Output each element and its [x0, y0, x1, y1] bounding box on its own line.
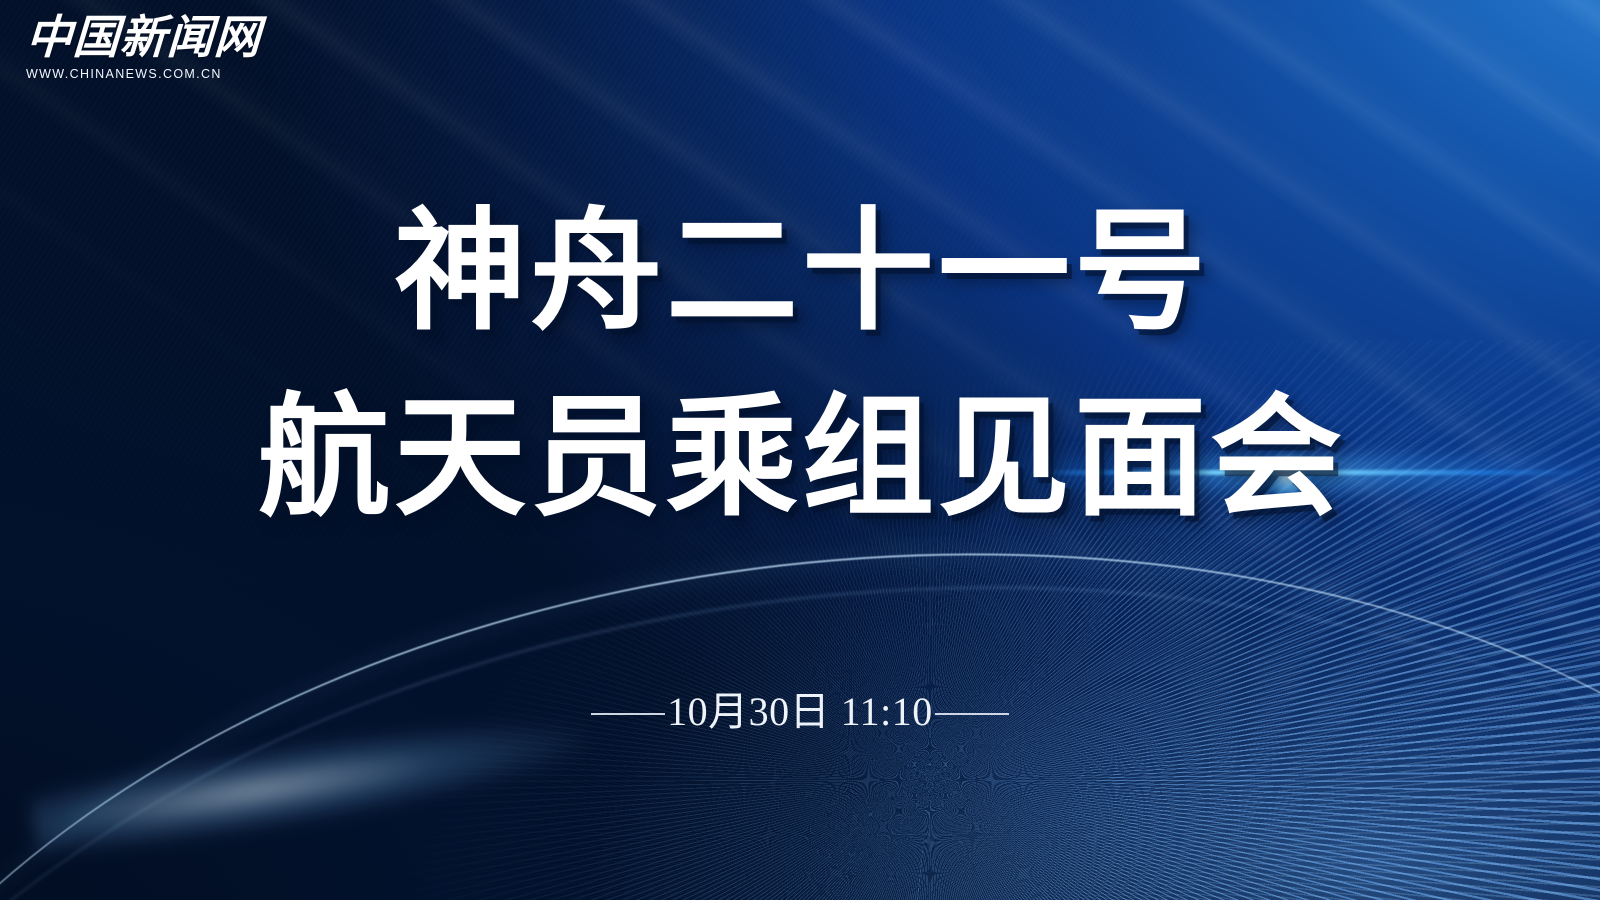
logo-website-url: WWW.CHINANEWS.COM.CN: [26, 67, 236, 81]
promo-banner: 中国新闻网 WWW.CHINANEWS.COM.CN 神舟二十一号 航天员乘组见…: [0, 0, 1600, 900]
headline-line-2: 航天员乘组见面会: [0, 392, 1600, 524]
schedule-datetime: 10月30日 11:10: [665, 692, 935, 732]
headline-block: 神舟二十一号 航天员乘组见面会: [0, 206, 1600, 524]
chinanews-logo[interactable]: 中国新闻网 WWW.CHINANEWS.COM.CN: [26, 14, 236, 81]
schedule-row: 10月30日 11:10: [0, 694, 1600, 734]
schedule-rule-right: [935, 713, 1009, 715]
schedule-rule-left: [591, 713, 665, 715]
headline-line-1: 神舟二十一号: [0, 206, 1600, 338]
logo-chinese-wordmark: 中国新闻网: [25, 14, 238, 63]
